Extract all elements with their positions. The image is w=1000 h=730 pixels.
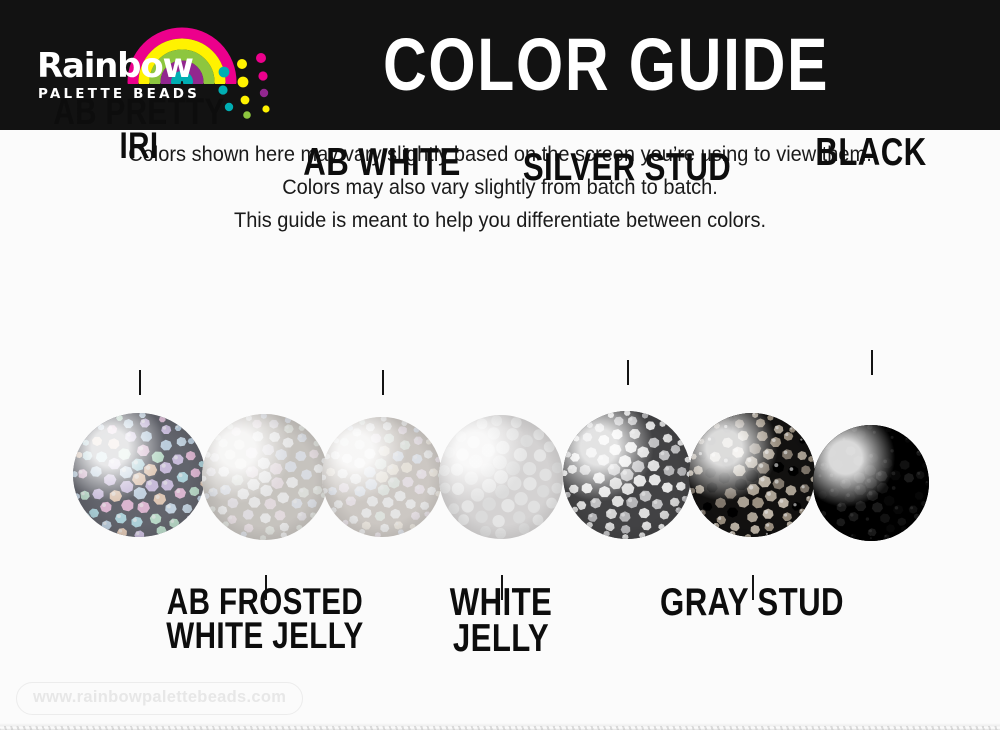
bead-label: AB WHITE xyxy=(262,145,502,181)
page-title: COLOR GUIDE xyxy=(383,28,829,102)
bead-label: AB PRETTY IRI xyxy=(19,95,259,163)
bead-label: SILVER STUD xyxy=(495,150,759,186)
bead-shading xyxy=(813,425,929,541)
bead-cord xyxy=(0,723,1000,730)
disclaimer-line-3: This guide is meant to help you differen… xyxy=(35,204,965,237)
brand-name: Rainbow xyxy=(37,49,193,83)
color-guide-page: Rainbow PALETTE BEADS COLOR GUIDE Colors… xyxy=(0,0,1000,730)
label-leader-line xyxy=(871,350,873,375)
bead-item: BLACK xyxy=(0,255,1000,675)
bead-label: BLACK xyxy=(767,135,975,171)
website-url[interactable]: www.rainbowpalettebeads.com xyxy=(16,682,303,715)
bead-strip: AB PRETTY IRIAB FROSTED WHITE JELLYAB WH… xyxy=(0,255,1000,675)
bead-sphere xyxy=(813,425,929,541)
